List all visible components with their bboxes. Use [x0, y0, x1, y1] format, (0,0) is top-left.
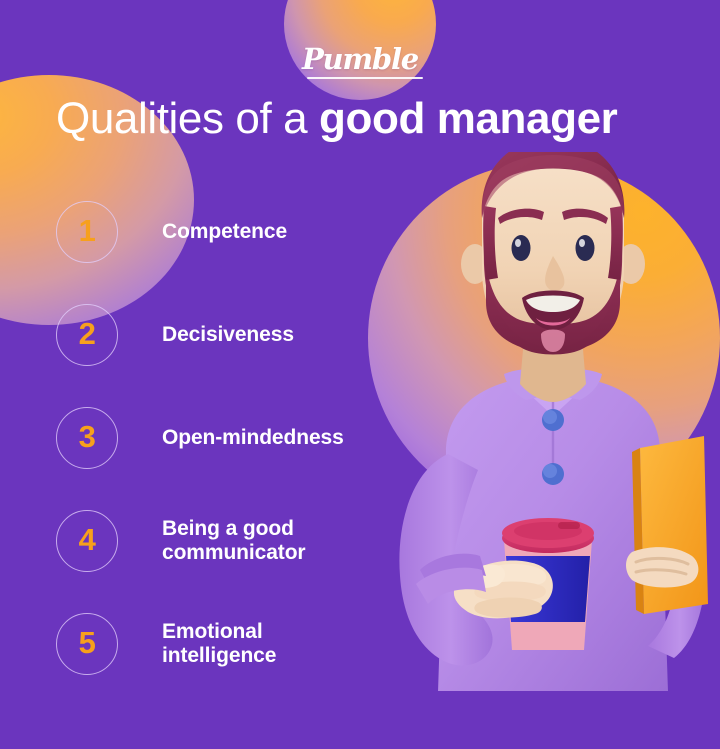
badge-number: 3: [79, 421, 96, 452]
infographic-poster: Pumble Qualities of a good manager 1 Com…: [0, 0, 720, 749]
badge-number: 5: [79, 627, 96, 658]
badge-number: 1: [79, 215, 96, 246]
list-item: 4 Being a good communicator: [56, 489, 386, 592]
brand-logo[interactable]: Pumble: [284, 0, 436, 100]
page-title-thin: Qualities of a: [56, 94, 319, 143]
quality-label: Open-mindedness: [162, 426, 344, 450]
number-badge: 2: [56, 304, 118, 366]
number-badge: 5: [56, 613, 118, 675]
badge-number: 4: [79, 524, 96, 555]
quality-label: Competence: [162, 220, 287, 244]
page-title-strong: good manager: [319, 94, 617, 143]
list-item: 1 Competence: [56, 180, 386, 283]
quality-label: Decisiveness: [162, 323, 294, 347]
number-badge: 4: [56, 510, 118, 572]
pumble-wordmark-icon: Pumble: [302, 45, 418, 74]
bottom-band: [0, 691, 720, 749]
number-badge: 3: [56, 407, 118, 469]
badge-number: 2: [79, 318, 96, 349]
page-title: Qualities of a good manager: [56, 96, 696, 142]
list-item: 3 Open-mindedness: [56, 386, 386, 489]
number-badge: 1: [56, 201, 118, 263]
list-item: 5 Emotional intelligence: [56, 592, 386, 695]
list-item: 2 Decisiveness: [56, 283, 386, 386]
quality-label: Being a good communicator: [162, 517, 372, 564]
qualities-list: 1 Competence 2 Decisiveness 3 Open-minde…: [56, 180, 386, 695]
quality-label: Emotional intelligence: [162, 620, 372, 667]
decor-blob-portrait: [368, 162, 720, 514]
